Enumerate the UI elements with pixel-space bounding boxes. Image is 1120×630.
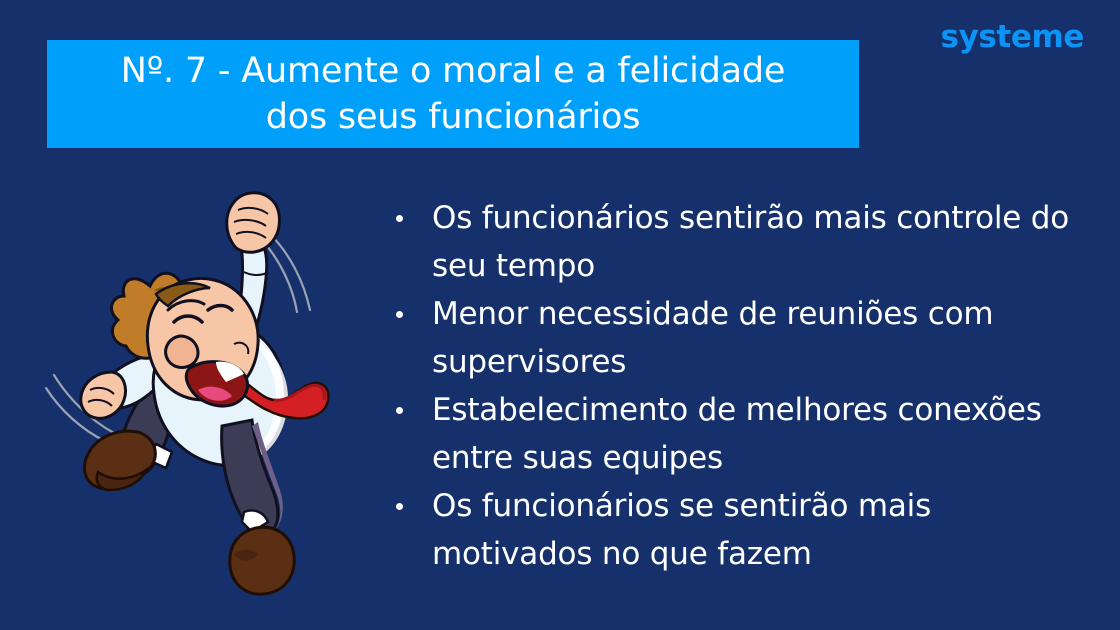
page-title-line-1: Nº. 7 - Aumente o moral e a felicidade <box>121 48 785 94</box>
list-item: Os funcionários se sentirão mais motivad… <box>388 482 1088 578</box>
list-item: Estabelecimento de melhores conexões ent… <box>388 386 1088 482</box>
systeme-logo: systeme <box>941 22 1084 53</box>
list-item-label: Menor necessidade de reuniões com superv… <box>432 296 993 380</box>
list-item-label: Estabelecimento de melhores conexões ent… <box>432 392 1042 476</box>
list-item-label: Os funcionários sentirão mais controle d… <box>432 200 1069 284</box>
benefits-bullet-list: Os funcionários sentirão mais controle d… <box>388 194 1088 578</box>
bullet-dot-icon <box>396 215 403 222</box>
bullet-dot-icon <box>396 503 403 510</box>
slide-root: systeme Nº. 7 - Aumente o moral e a feli… <box>0 0 1120 630</box>
page-title-line-2: dos seus funcionários <box>266 94 641 140</box>
list-item: Os funcionários sentirão mais controle d… <box>388 194 1088 290</box>
jumping-businessman-illustration <box>38 176 370 600</box>
bullet-dot-icon <box>396 311 403 318</box>
front-leg <box>222 420 295 594</box>
title-banner: Nº. 7 - Aumente o moral e a felicidade d… <box>47 40 859 148</box>
list-item: Menor necessidade de reuniões com superv… <box>388 290 1088 386</box>
bullet-dot-icon <box>396 407 403 414</box>
list-item-label: Os funcionários se sentirão mais motivad… <box>432 488 931 572</box>
